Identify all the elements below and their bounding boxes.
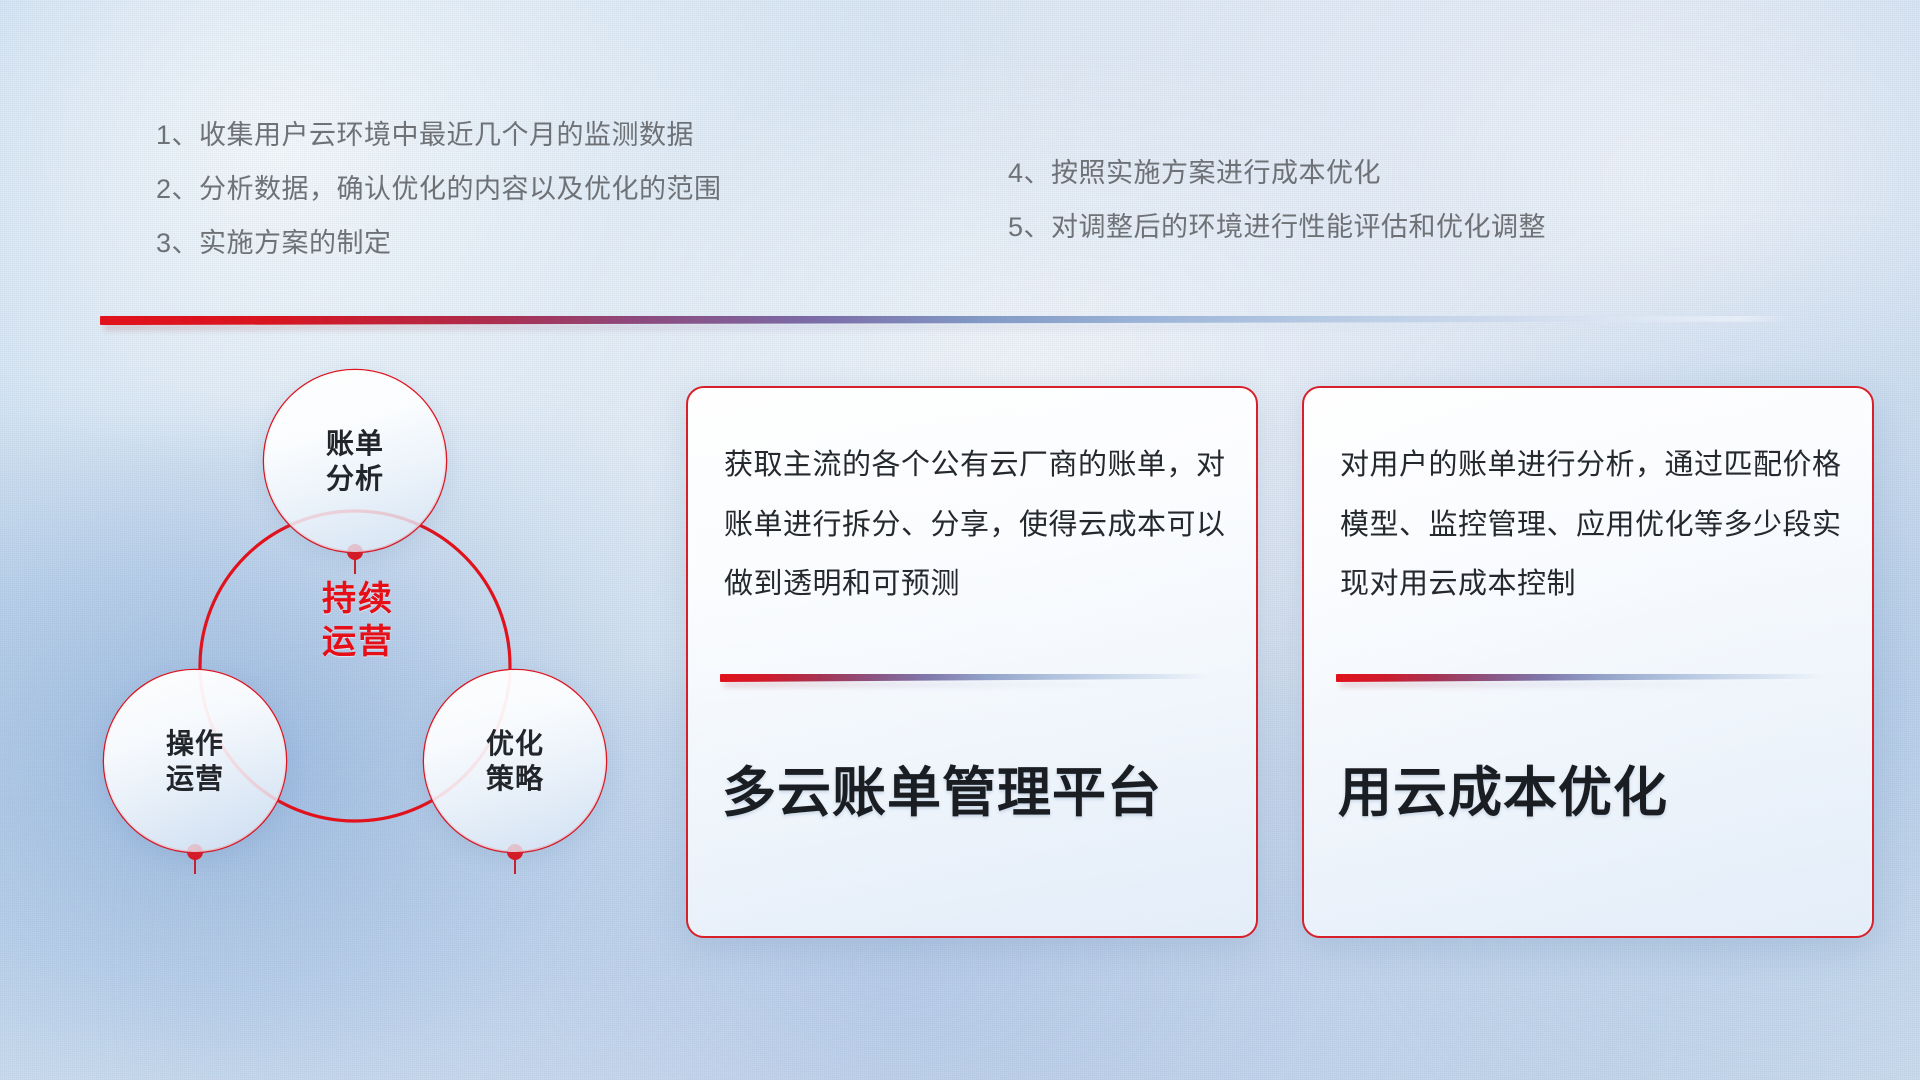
card-1-title: 多云账单管理平台 bbox=[722, 748, 1162, 827]
bubble-billing-line-1: 账单 bbox=[326, 426, 384, 461]
card-2-title: 用云成本优化 bbox=[1338, 748, 1668, 827]
venn-center-line-1: 持续 bbox=[272, 578, 444, 621]
bubble-ops-line-2: 运营 bbox=[166, 761, 224, 796]
process-step-5: 5、对调整后的环境进行性能评估和优化调整 bbox=[1008, 214, 1546, 241]
card-2-body: 对用户的账单进行分析，通过匹配价格模型、监控管理、应用优化等多少段实现对用云成本… bbox=[1340, 436, 1842, 615]
divider-shadow bbox=[104, 325, 1704, 330]
process-step-3: 3、实施方案的制定 bbox=[156, 230, 722, 257]
card-2-watermark bbox=[1454, 646, 1664, 666]
process-step-4: 4、按照实施方案进行成本优化 bbox=[1008, 160, 1546, 187]
card-1-watermark bbox=[838, 646, 1048, 666]
bubble-ops-line-1: 操作 bbox=[166, 726, 224, 761]
card-2-rule-shadow bbox=[1340, 682, 1810, 687]
process-steps-left: 1、收集用户云环境中最近几个月的监测数据 2、分析数据，确认优化的内容以及优化的… bbox=[156, 122, 722, 284]
venn-center-line-2: 运营 bbox=[272, 621, 444, 664]
venn-center-label: 持续 运营 bbox=[272, 578, 444, 664]
process-steps-right: 4、按照实施方案进行成本优化 5、对调整后的环境进行性能评估和优化调整 bbox=[1008, 160, 1546, 268]
slide-canvas: 1、收集用户云环境中最近几个月的监测数据 2、分析数据，确认优化的内容以及优化的… bbox=[0, 0, 1920, 1080]
card-1-body: 获取主流的各个公有云厂商的账单，对账单进行拆分、分享，使得云成本可以做到透明和可… bbox=[724, 436, 1226, 615]
process-step-2: 2、分析数据，确认优化的内容以及优化的范围 bbox=[156, 176, 722, 203]
process-step-1: 1、收集用户云环境中最近几个月的监测数据 bbox=[156, 122, 722, 149]
bubble-strategy-line-2: 策略 bbox=[486, 761, 544, 796]
bubble-strategy-line-1: 优化 bbox=[486, 726, 544, 761]
card-multi-cloud-billing[interactable]: 获取主流的各个公有云厂商的账单，对账单进行拆分、分享，使得云成本可以做到透明和可… bbox=[686, 386, 1258, 938]
bubble-billing-analysis[interactable]: 账单 分析 bbox=[264, 370, 446, 552]
card-1-rule bbox=[720, 674, 1224, 682]
bubble-operations[interactable]: 操作 运营 bbox=[104, 670, 286, 852]
continuous-operations-diagram: 账单 分析 操作 运营 优化 策略 持续 运营 bbox=[96, 356, 656, 936]
card-cloud-cost-optimization[interactable]: 对用户的账单进行分析，通过匹配价格模型、监控管理、应用优化等多少段实现对用云成本… bbox=[1302, 386, 1874, 938]
bubble-billing-line-2: 分析 bbox=[326, 461, 384, 496]
bubble-optimization-strategy[interactable]: 优化 策略 bbox=[424, 670, 606, 852]
card-2-rule bbox=[1336, 674, 1840, 682]
card-1-rule-shadow bbox=[724, 682, 1194, 687]
